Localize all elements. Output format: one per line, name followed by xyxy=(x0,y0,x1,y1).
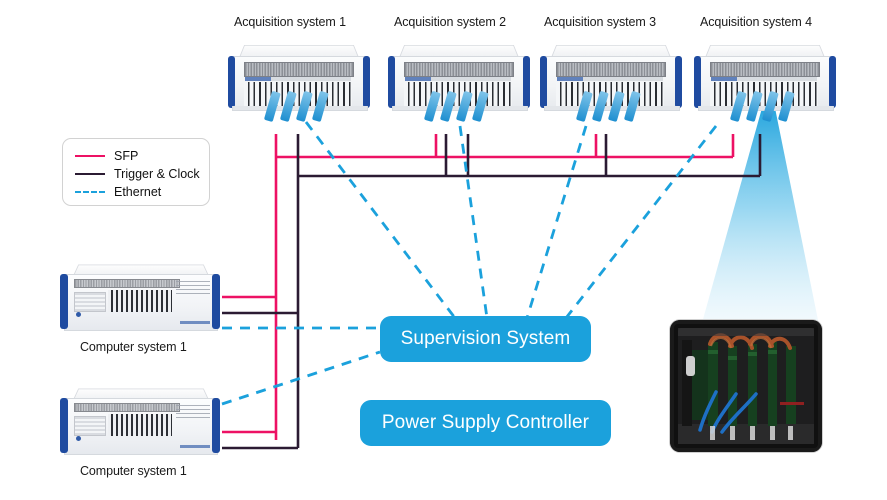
power-supply-controller-label: Power Supply Controller xyxy=(382,412,589,434)
chassis-module-slots xyxy=(404,82,512,108)
acquisition-crate-internals-photo xyxy=(670,320,822,452)
acquisition-system-3-label: Acquisition system 3 xyxy=(544,15,656,29)
chassis-rail-left xyxy=(388,56,395,108)
computer-system-2-label: Computer system 1 xyxy=(80,464,187,478)
chassis-brand-strip xyxy=(245,77,351,81)
supervision-system-label: Supervision System xyxy=(401,328,571,350)
chassis-rail-right xyxy=(675,56,682,108)
chassis-expansion-cards xyxy=(108,414,172,436)
legend-label: Trigger & Clock xyxy=(114,167,200,181)
acquisition-system-1-label: Acquisition system 1 xyxy=(234,15,346,29)
chassis-rail-right xyxy=(829,56,836,108)
supervision-system-box[interactable]: Supervision System xyxy=(380,316,591,362)
acquisition-system-2-chassis xyxy=(388,42,530,114)
chassis-vent xyxy=(404,62,514,77)
chassis-logo xyxy=(180,321,210,324)
acquisition-system-1-chassis xyxy=(228,42,370,114)
legend-item-trigger-clock: Trigger & Clock xyxy=(75,165,209,183)
ethernet-line-swatch xyxy=(75,191,105,193)
chassis-vent xyxy=(74,403,180,412)
power-led xyxy=(76,312,81,317)
legend-label: Ethernet xyxy=(114,185,161,199)
legend: SFP Trigger & Clock Ethernet xyxy=(62,138,210,206)
chassis-vent xyxy=(244,62,354,77)
chassis-rail-left xyxy=(540,56,547,108)
legend-label: SFP xyxy=(114,149,138,163)
acquisition-system-4-label: Acquisition system 4 xyxy=(700,15,812,29)
legend-item-ethernet: Ethernet xyxy=(75,183,209,201)
chassis-io-panel xyxy=(74,416,106,436)
chassis-expansion-cards xyxy=(108,290,172,312)
chassis-brand-strip xyxy=(557,77,663,81)
chassis-vent xyxy=(710,62,820,77)
sfp-line-swatch xyxy=(75,155,105,157)
chassis-rail-right xyxy=(212,398,220,453)
chassis-brand-strip xyxy=(405,77,511,81)
acquisition-system-4-chassis xyxy=(694,42,836,114)
chassis-rail-right xyxy=(363,56,370,108)
legend-item-sfp: SFP xyxy=(75,147,209,165)
diagram-canvas: SFP Trigger & Clock Ethernet Acquisition… xyxy=(0,0,887,500)
computer-system-1-label: Computer system 1 xyxy=(80,340,187,354)
chassis-rail-right xyxy=(523,56,530,108)
chassis-label-text xyxy=(176,404,210,418)
computer-system-2-chassis xyxy=(60,386,220,456)
power-led xyxy=(76,436,81,441)
power-supply-controller-box[interactable]: Power Supply Controller xyxy=(360,400,611,446)
trigger-clock-line-swatch xyxy=(75,173,105,175)
chassis-vent xyxy=(74,279,180,288)
chassis-brand-strip xyxy=(711,77,817,81)
chassis-vent xyxy=(556,62,666,77)
chassis-rail-left xyxy=(694,56,701,108)
chassis-label-text xyxy=(176,280,210,294)
chassis-rail-right xyxy=(212,274,220,329)
chassis-rail-left xyxy=(228,56,235,108)
chassis-module-slots xyxy=(244,82,352,108)
chassis-logo xyxy=(180,445,210,448)
chassis-module-slots xyxy=(710,82,818,108)
chassis-module-slots xyxy=(556,82,664,108)
acquisition-system-3-chassis xyxy=(540,42,682,114)
chassis-rail-left xyxy=(60,274,68,329)
chassis-rail-left xyxy=(60,398,68,453)
computer-system-1-chassis xyxy=(60,262,220,332)
acquisition-system-2-label: Acquisition system 2 xyxy=(394,15,506,29)
chassis-io-panel xyxy=(74,292,106,312)
